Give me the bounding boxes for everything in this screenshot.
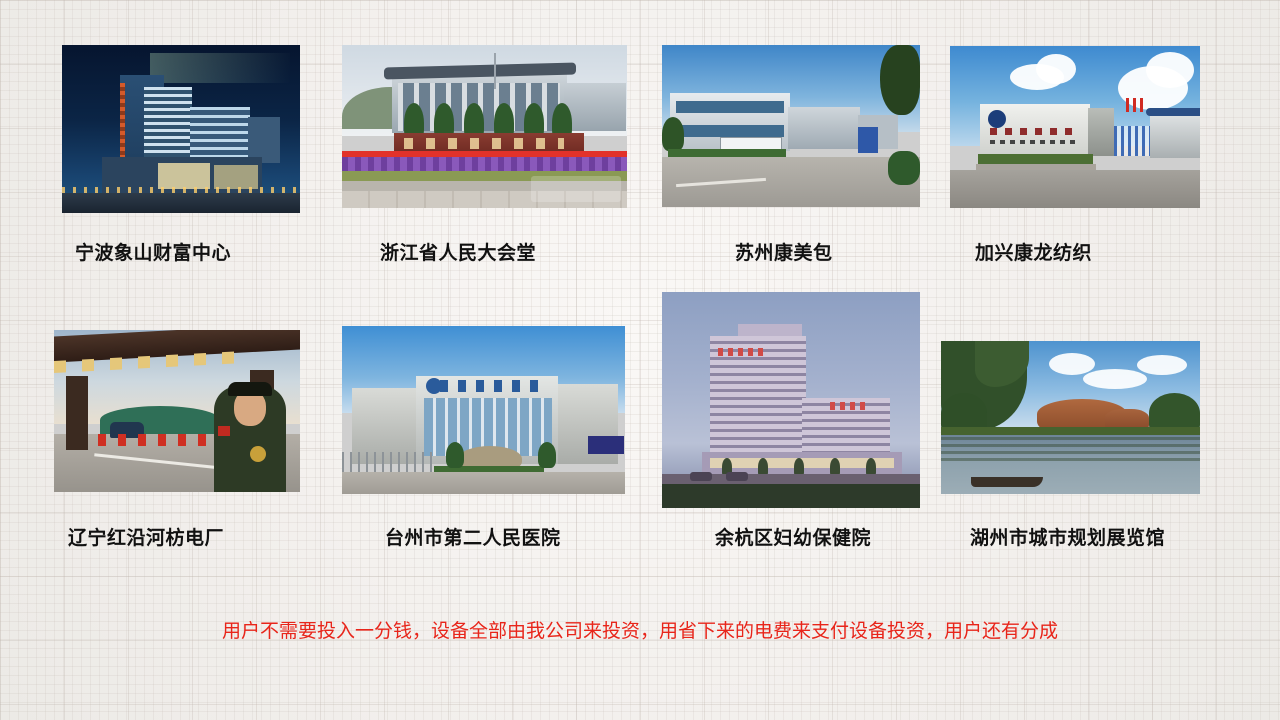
pine-tree [880,45,920,115]
gallery-image-huzhou-urban-planning-exhibition-hall[interactable] [941,341,1200,494]
cloud [1049,353,1095,375]
photo-watermark [531,176,621,202]
cloud [1137,355,1187,375]
photo-scene [662,292,920,508]
forecourt-paving [342,472,625,494]
gallery-image-liaoning-hongyanhe-power-plant[interactable] [54,330,300,492]
gallery-image-ningbo-xiangshan-wealth-center[interactable] [62,45,300,213]
shrub-left [662,117,684,151]
photo-scene [950,46,1200,208]
flags [1126,98,1144,112]
blue-signboard [588,436,624,454]
photo-scene [662,45,920,207]
bush-right [888,151,920,185]
slide-canvas: 宁波象山财富中心 浙江省人民大会堂 [0,0,1280,720]
gate-pier [1088,108,1114,156]
podium-glass-right [214,165,258,189]
soldier-cap [228,382,272,396]
gallery-image-zhejiang-great-hall-of-the-people[interactable] [342,45,627,208]
footnote-text: 用户不需要投入一分钱，设备全部由我公司来投资，用省下来的电费来支付设备投资，用户… [0,618,1280,644]
collar-badge [218,426,230,436]
car [690,472,712,481]
photo-scene [62,45,300,213]
light-beam [150,53,290,83]
flagpole [494,53,496,89]
wall-chinese-name [990,128,1080,135]
gallery-caption-huzhou-urban-planning-exhibition-hall: 湖州市城市规划展览馆 [970,527,1165,549]
guard-house-roof [1146,108,1200,116]
photo-scene [342,45,627,208]
gallery-image-jiaxing-kanglong-textile[interactable] [950,46,1200,208]
photo-scene [54,330,300,492]
wing-name-sign [830,402,866,410]
tree [538,442,556,468]
podium-glass [158,163,210,189]
side-building [564,83,626,131]
window-band-lower [676,125,784,137]
name-wall-inscription [404,138,564,149]
gallery-caption-ningbo-xiangshan-wealth-center: 宁波象山财富中心 [75,242,231,264]
cone-denim-logo-icon [988,110,1006,128]
car [726,472,748,481]
arm-emblem [250,446,266,462]
gallery-caption-suzhou-kangmeibao: 苏州康美包 [735,242,833,264]
gallery-caption-liaoning-hongyanhe-power-plant: 辽宁红沿河枋电厂 [68,527,224,549]
hospital-name-sign [440,380,544,392]
gallery-caption-taizhou-second-peoples-hospital: 台州市第二人民医院 [385,527,561,549]
photo-scene [941,341,1200,494]
gallery-image-suzhou-kangmeibao[interactable] [662,45,920,207]
notice-board [858,127,878,153]
cloud [1146,52,1194,88]
fence [342,452,438,474]
cloud [1036,54,1076,84]
tree [446,442,464,468]
office-slab [190,107,250,162]
cloud [1083,369,1147,389]
window-band-upper [676,101,784,113]
gallery-image-taizhou-second-peoples-hospital[interactable] [342,326,625,494]
road [950,170,1200,208]
gallery-caption-zhejiang-great-hall-of-the-people: 浙江省人民大会堂 [380,242,536,264]
photo-scene [342,326,625,494]
guard-house [1150,114,1200,158]
wall-english-name [990,140,1078,144]
foreground-lawn [662,484,920,508]
traffic-barriers [78,434,208,446]
boat [971,477,1043,487]
gallery-image-yuhang-maternal-child-health-hospital[interactable] [662,292,920,508]
workshop-shed [788,107,860,149]
street [62,193,300,213]
water-reflection [941,437,1200,465]
gate-pillar-left [66,376,88,450]
tower-name-sign [718,348,768,356]
gallery-caption-yuhang-maternal-child-health-hospital: 余杭区妇幼保健院 [715,527,871,549]
gallery-caption-jiaxing-kanglong-textile: 加兴康龙纺织 [975,242,1092,264]
